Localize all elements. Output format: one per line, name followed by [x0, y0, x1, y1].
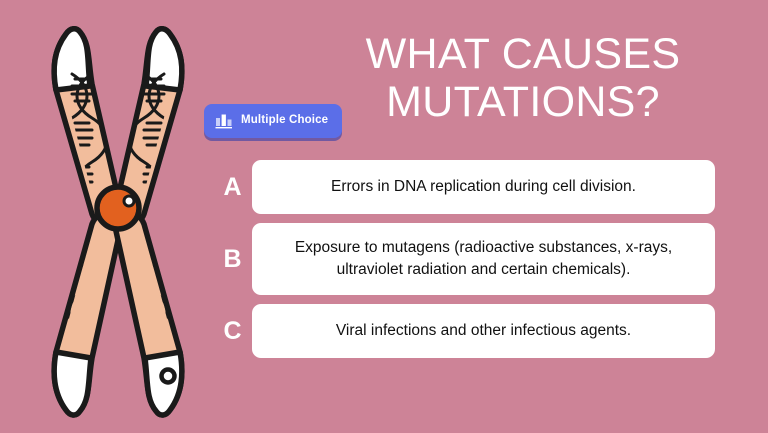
centromere-highlight — [124, 196, 134, 206]
centromere — [97, 187, 139, 229]
answer-letter-c: C — [213, 319, 252, 344]
answer-option-c[interactable]: C Viral infections and other infectious … — [213, 304, 715, 358]
answer-letter-a: A — [213, 175, 252, 200]
answer-card-c[interactable]: Viral infections and other infectious ag… — [252, 304, 715, 358]
answer-option-b[interactable]: B Exposure to mutagens (radioactive subs… — [213, 223, 715, 295]
answer-option-a[interactable]: A Errors in DNA replication during cell … — [213, 160, 715, 214]
answer-card-b[interactable]: Exposure to mutagens (radioactive substa… — [252, 223, 715, 295]
page-title: WHAT CAUSES MUTATIONS? — [300, 30, 746, 126]
chromosome-illustration — [18, 8, 218, 433]
bar-chart-icon — [215, 113, 233, 129]
answer-text-a: Errors in DNA replication during cell di… — [331, 176, 636, 198]
title-line-1: WHAT CAUSES — [300, 30, 746, 78]
title-line-2: MUTATIONS? — [300, 78, 746, 126]
chromosome-arm-lower-right — [114, 212, 182, 415]
answer-card-a[interactable]: Errors in DNA replication during cell di… — [252, 160, 715, 214]
chromosome-arm-lower-left — [54, 212, 122, 415]
chromosome-tip-dot — [162, 370, 175, 383]
answer-text-b: Exposure to mutagens (radioactive substa… — [268, 237, 699, 281]
answer-options-list: A Errors in DNA replication during cell … — [213, 160, 715, 358]
answer-letter-b: B — [213, 247, 252, 272]
answer-text-c: Viral infections and other infectious ag… — [336, 320, 631, 342]
quiz-slide: Multiple Choice WHAT CAUSES MUTATIONS? A… — [0, 0, 768, 433]
